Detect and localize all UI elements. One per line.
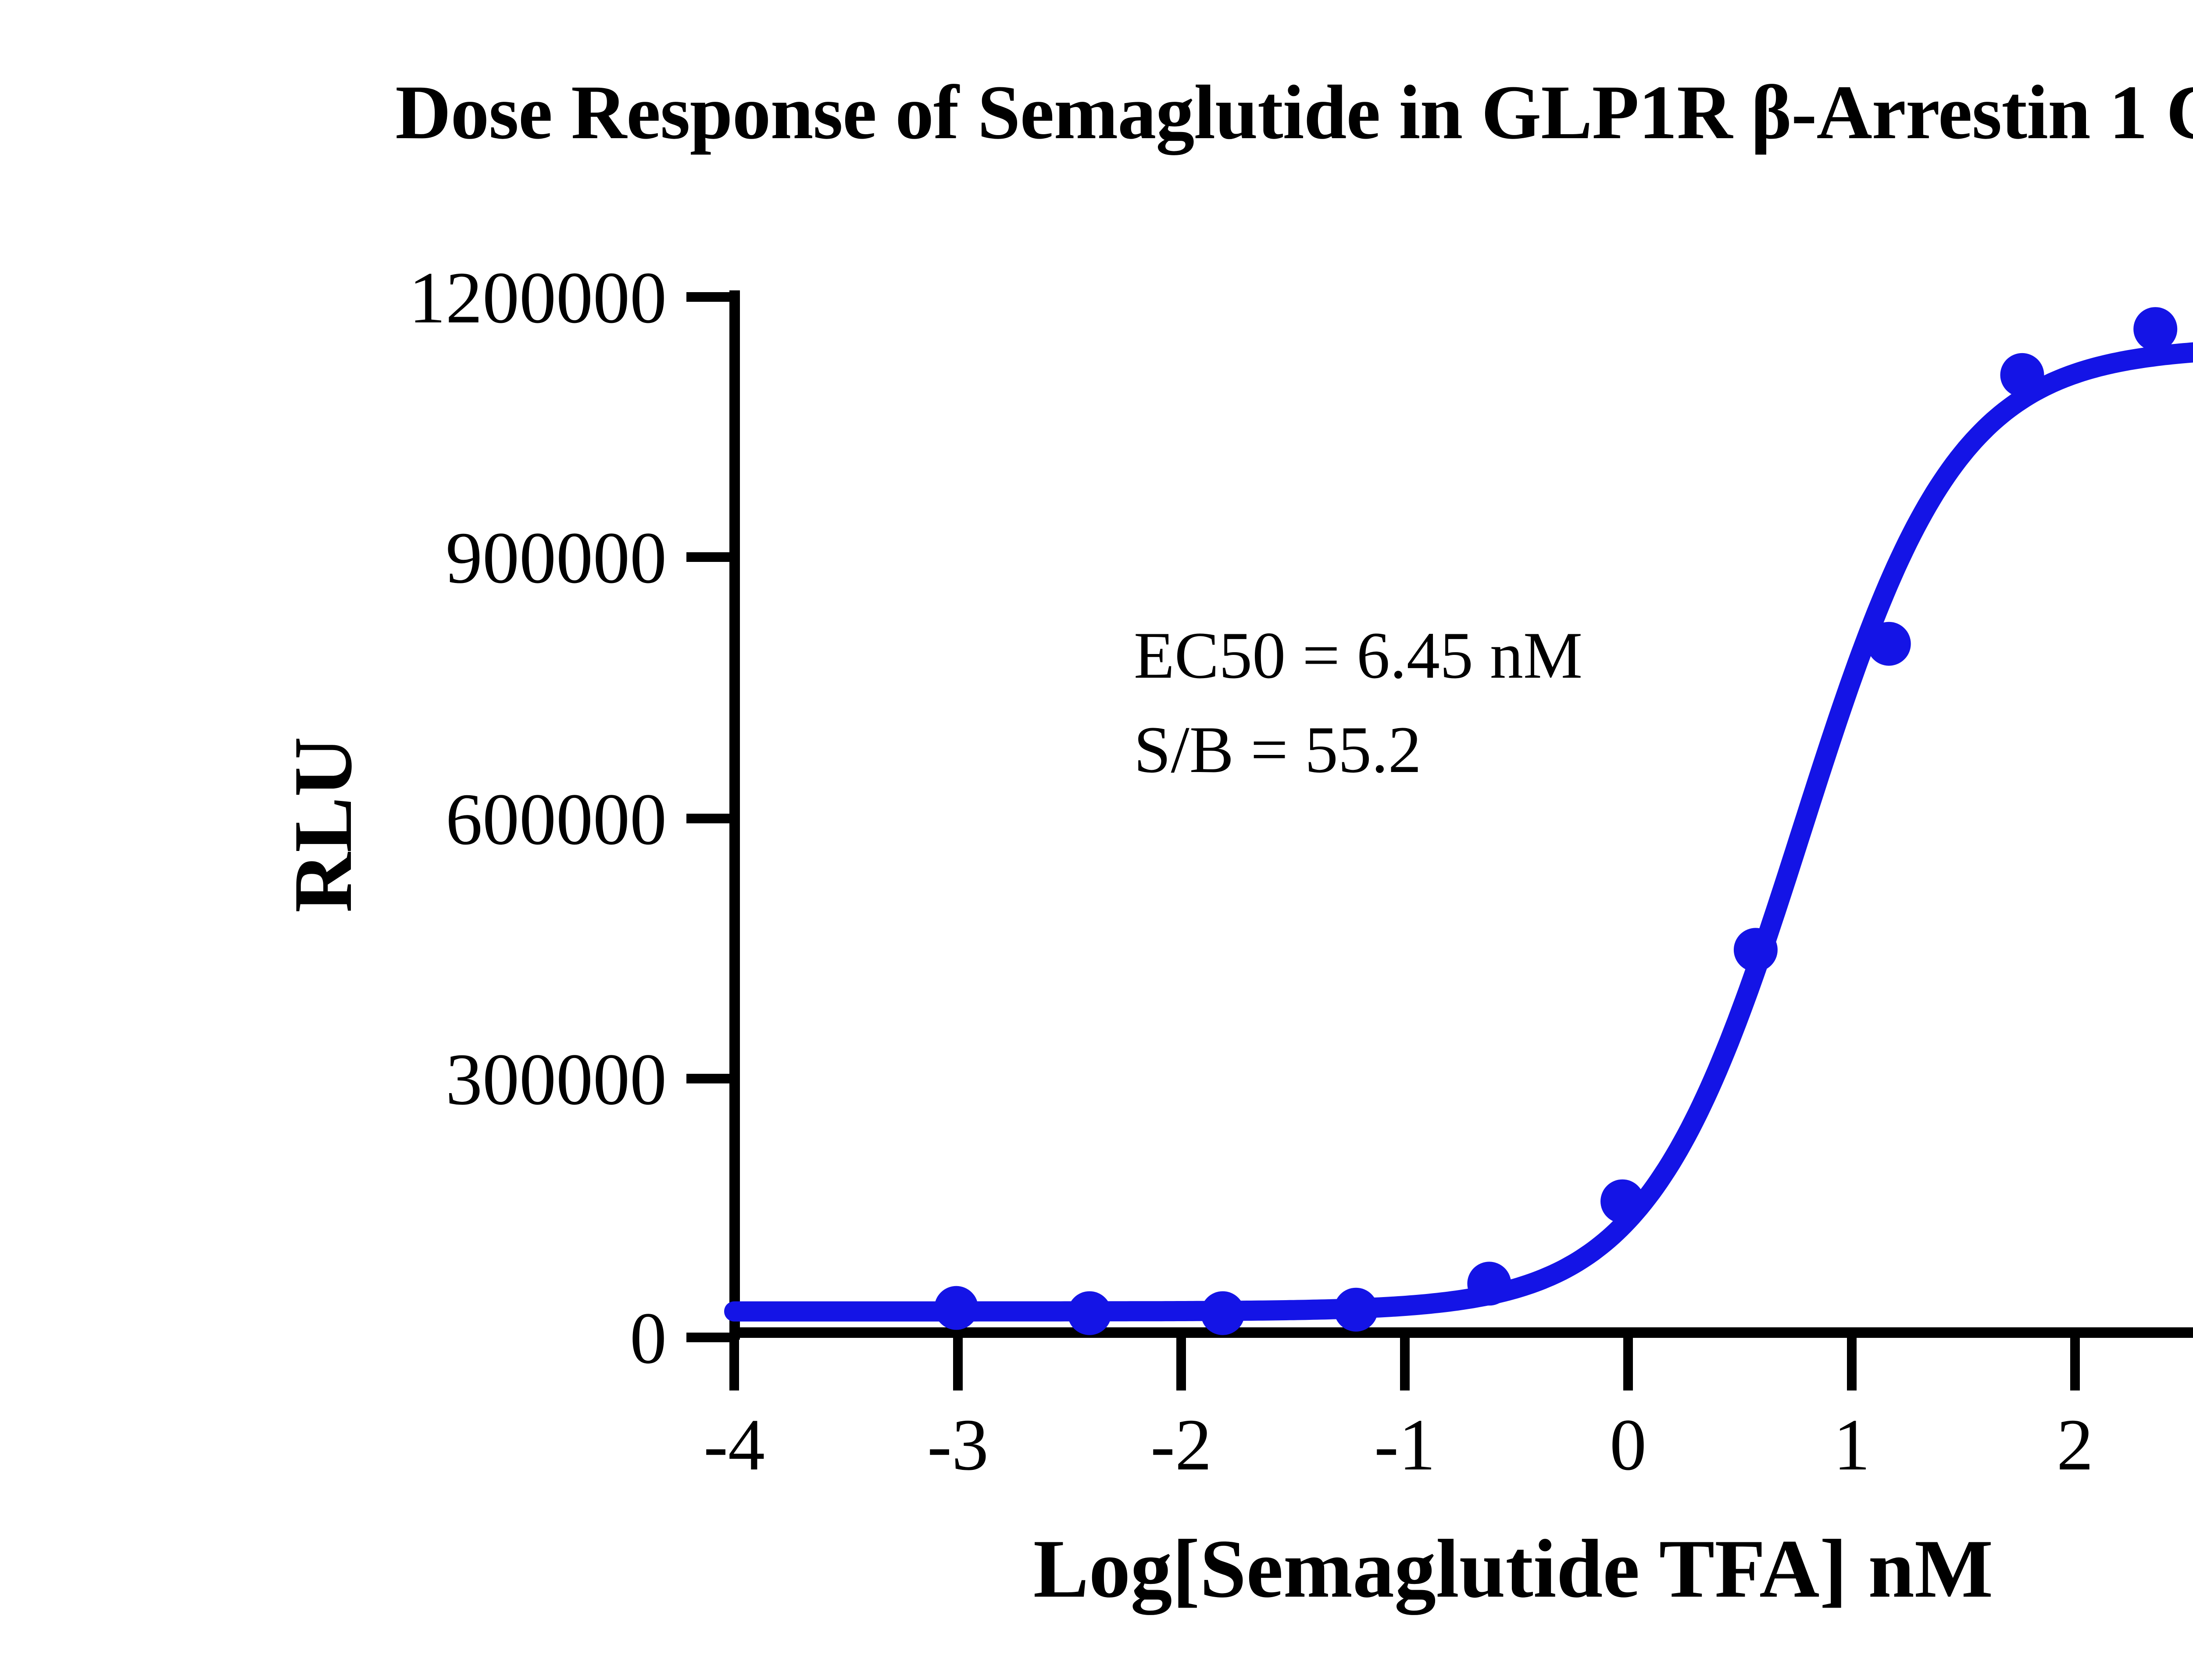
data-point [1734,928,1778,972]
data-point [1334,1288,1378,1332]
data-point [1600,1180,1644,1223]
ec50-annotation: EC50 = 6.45 nM [1134,618,1582,692]
y-axis-title: RLU [277,736,369,912]
x-tick-label-2: 2 [2057,1404,2093,1486]
data-point [2133,307,2177,351]
data-point [934,1286,978,1330]
y-tick-label-1200000: 1200000 [409,257,667,339]
figure-root: Dose Response of Semaglutide in GLP1R β-… [0,0,2193,1680]
data-point [2000,353,2044,397]
y-tick-marks [686,292,730,1342]
data-point [1068,1291,1111,1335]
data-point [1201,1291,1245,1335]
y-tick-label-600000: 600000 [446,779,667,860]
dose-response-curve [734,348,2193,1312]
x-tick-label-neg1: -1 [1374,1404,1436,1486]
sb-annotation: S/B = 55.2 [1134,713,1422,786]
x-axis-line [729,1327,2193,1338]
y-tick-label-900000: 900000 [446,517,667,599]
x-tick-marks [729,1338,2193,1390]
data-point [1867,622,1911,666]
data-point-group [934,307,2193,1335]
y-tick-label-300000: 300000 [446,1039,667,1120]
y-tick-label-0: 0 [630,1298,667,1379]
data-point [1467,1262,1511,1305]
x-tick-label-1: 1 [1833,1404,1870,1486]
x-axis-title: Log[Semaglutide TFA] nM [1033,1523,1993,1615]
x-tick-label-neg2: -2 [1150,1404,1212,1486]
x-tick-label-0: 0 [1610,1404,1647,1486]
x-tick-label-neg4: -4 [704,1404,765,1486]
dose-response-chart: 1200000 900000 600000 300000 0 -4 -3 -2 … [0,0,2193,1680]
x-tick-label-neg3: -3 [927,1404,989,1486]
y-axis-line [729,290,740,1340]
